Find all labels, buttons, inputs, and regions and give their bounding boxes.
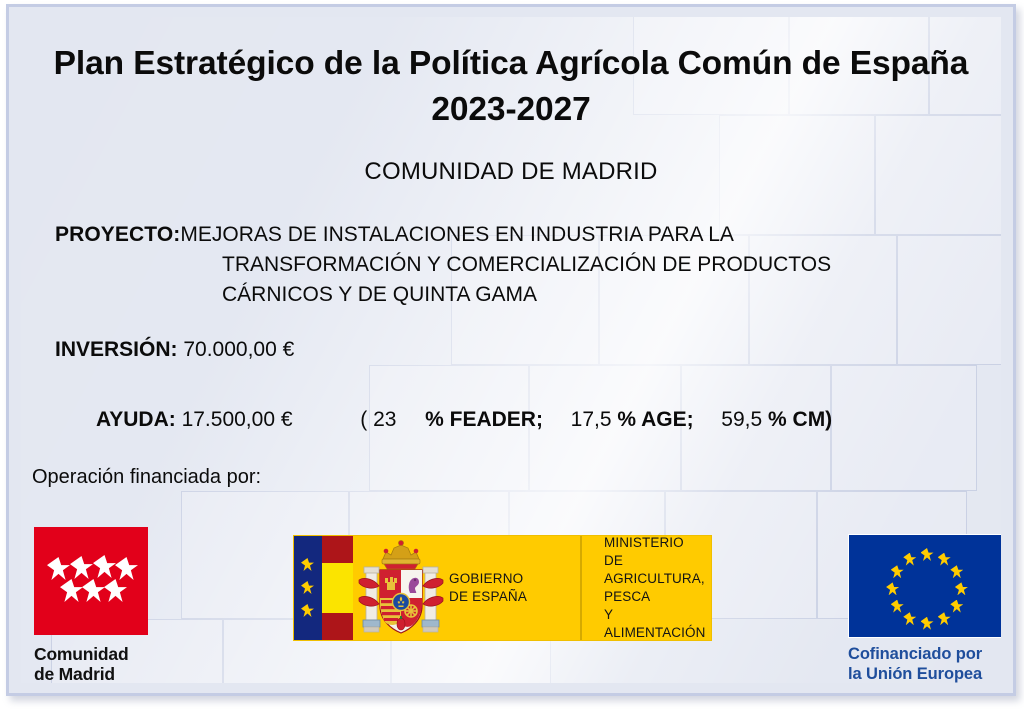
ministry-line-2: DE AGRICULTURA, PESCA xyxy=(604,553,705,604)
ministry-line-3: Y ALIMENTACIÓN xyxy=(604,607,705,640)
logo-row: Comunidad de Madrid xyxy=(21,515,1001,683)
investment-label: INVERSIÓN: xyxy=(55,338,178,361)
madrid-flag-icon xyxy=(34,527,148,635)
madrid-caption-line-1: Comunidad xyxy=(34,644,128,664)
aid-cm-pct: 59,5 xyxy=(721,408,762,431)
title-line-2: 2023-2027 xyxy=(431,91,590,128)
spain-coat-of-arms-icon xyxy=(353,536,449,640)
title-line-1: Plan Estratégico de la Política Agrícola… xyxy=(54,45,969,82)
investment-value: 70.000,00 € xyxy=(183,338,294,361)
poster-frame-inner: Plan Estratégico de la Política Agrícola… xyxy=(21,17,1001,683)
eu-caption: Cofinanciado por la Unión Europea xyxy=(848,645,1001,683)
poster-frame-outer: Plan Estratégico de la Política Agrícola… xyxy=(6,4,1016,696)
funding-note: Operación financiada por: xyxy=(32,466,261,489)
madrid-seven-stars xyxy=(34,527,148,635)
spain-flag-icon xyxy=(322,536,353,640)
project-line-1: MEJORAS DE INSTALACIONES EN INDUSTRIA PA… xyxy=(180,223,734,246)
gobierno-line-2: DE ESPAÑA xyxy=(449,589,527,604)
aid-value: 17.500,00 xyxy=(182,408,275,431)
project-line-3: CÁRNICOS Y DE QUINTA GAMA xyxy=(222,280,955,310)
logo-gobierno-de-espana: GOBIERNO DE ESPAÑA MINISTERIO DE AGRICUL… xyxy=(293,535,712,641)
aid-currency: € xyxy=(281,408,293,431)
logo-european-union: Cofinanciado por la Unión Europea xyxy=(848,534,1001,683)
ministry-line-1: MINISTERIO xyxy=(604,535,684,550)
aid-age-pct: 17,5 xyxy=(571,408,612,431)
aid-label: AYUDA: xyxy=(96,408,176,431)
eu-caption-line-2: la Unión Europea xyxy=(848,665,982,683)
project-block: PROYECTO:MEJORAS DE INSTALACIONES EN IND… xyxy=(55,220,955,311)
madrid-caption-line-2: de Madrid xyxy=(34,664,115,683)
page-title: Plan Estratégico de la Política Agrícola… xyxy=(21,41,1001,133)
eu-flag-icon xyxy=(848,534,1001,638)
logo-comunidad-de-madrid: Comunidad de Madrid xyxy=(34,527,169,683)
project-line-2: TRANSFORMACIÓN Y COMERCIALIZACIÓN DE PRO… xyxy=(222,250,955,280)
gobierno-text: GOBIERNO DE ESPAÑA xyxy=(449,536,580,640)
gobierno-flag-strip xyxy=(294,536,353,640)
poster-subtitle: COMUNIDAD DE MADRID xyxy=(21,158,1001,186)
aid-cm-label: % CM) xyxy=(768,408,832,431)
aid-block: AYUDA: 17.500,00 € ( 23 % FEADER; 17,5 %… xyxy=(96,408,832,432)
poster-slide: Plan Estratégico de la Política Agrícola… xyxy=(0,0,1024,709)
aid-feader-pct: 23 xyxy=(373,408,396,431)
ministry-text: MINISTERIO DE AGRICULTURA, PESCA Y ALIME… xyxy=(582,536,711,640)
investment-block: INVERSIÓN: 70.000,00 € xyxy=(55,338,294,362)
aid-age-label: % AGE; xyxy=(617,408,693,431)
madrid-caption: Comunidad de Madrid xyxy=(34,645,169,683)
poster-content: Plan Estratégico de la Política Agrícola… xyxy=(21,17,1001,683)
aid-open-paren: ( xyxy=(360,408,367,431)
gobierno-line-1: GOBIERNO xyxy=(449,571,523,586)
eu-caption-line-1: Cofinanciado por xyxy=(848,645,982,663)
project-label: PROYECTO: xyxy=(55,223,180,246)
gobierno-eu-stripe-icon xyxy=(294,536,322,640)
aid-feader-label: % FEADER; xyxy=(425,408,543,431)
